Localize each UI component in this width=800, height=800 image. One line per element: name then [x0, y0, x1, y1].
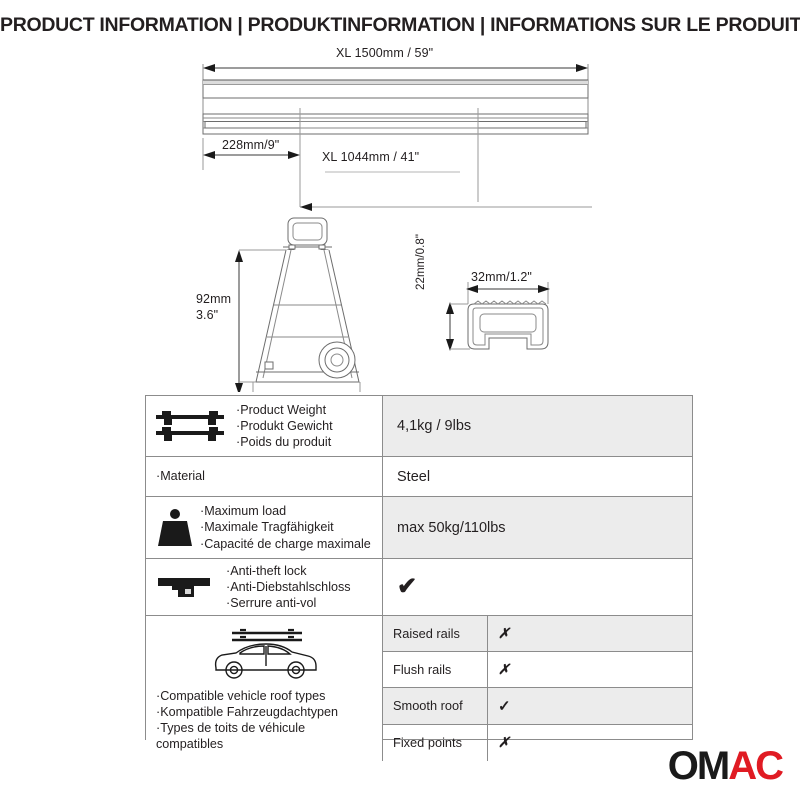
logo-text-red: AC	[728, 744, 782, 788]
omac-logo: OMAC	[668, 746, 782, 786]
technical-drawing-area: XL 1500mm / 59" 228mm/9" XL 1044mm / 41"…	[0, 42, 800, 392]
roof-type-option: Smooth roof ✓	[383, 688, 692, 724]
roof-type-option: Flush rails ✗	[383, 652, 692, 688]
bar-total-length-label: XL 1500mm / 59"	[336, 46, 433, 60]
label-en: ·Compatible vehicle roof types	[156, 688, 366, 704]
anti-theft-lock-value: ✔	[383, 559, 692, 615]
table-row: ·Material Steel	[146, 457, 692, 497]
label-fr: ·Types de toits de véhicule compatibles	[156, 720, 366, 752]
roof-type-option: Raised rails ✗	[383, 616, 692, 652]
label-en: ·Product Weight	[236, 402, 333, 418]
row-labels: ·Compatible vehicle roof types ·Kompatib…	[156, 688, 366, 752]
roof-type-options: Raised rails ✗ Flush rails ✗ Smooth roof…	[383, 616, 692, 761]
label-fr: ·Poids du produit	[236, 434, 333, 450]
roof-type-mark: ✗	[488, 725, 692, 761]
drawing-svg	[0, 42, 800, 392]
row-label-cell: ·Compatible vehicle roof types ·Kompatib…	[146, 616, 383, 761]
label-de: ·Anti-Diebstahlschloss	[226, 579, 351, 595]
foot-height-label-mm: 92mm	[196, 292, 231, 306]
bar-offset-label: 228mm/9"	[222, 138, 279, 152]
roof-type-name: Raised rails	[383, 616, 488, 651]
roof-type-mark: ✓	[488, 688, 692, 723]
row-labels: ·Product Weight ·Produkt Gewicht ·Poids …	[236, 402, 333, 450]
label-de: ·Kompatible Fahrzeugdachtypen	[156, 704, 366, 720]
bar-span-label: XL 1044mm / 41"	[322, 150, 419, 164]
profile-height-label: 22mm/0.8"	[415, 234, 427, 290]
cross-icon: ✗	[498, 734, 510, 751]
row-label-cell: ·Anti-theft lock ·Anti-Diebstahlschloss …	[146, 559, 383, 615]
label-fr: ·Capacité de charge maximale	[200, 536, 371, 552]
row-label-cell: ·Maximum load ·Maximale Tragfähigkeit ·C…	[146, 497, 383, 558]
profile-width-label: 32mm/1.2"	[471, 270, 532, 284]
row-labels: ·Anti-theft lock ·Anti-Diebstahlschloss …	[226, 563, 351, 611]
table-row-roof-types: ·Compatible vehicle roof types ·Kompatib…	[146, 616, 692, 761]
roof-type-option: Fixed points ✗	[383, 725, 692, 761]
car-with-crossbars-icon	[206, 624, 324, 682]
label-de: ·Maximale Tragfähigkeit	[200, 519, 371, 535]
roof-type-mark: ✗	[488, 652, 692, 687]
row-labels: ·Material	[156, 468, 205, 484]
specification-table: ·Product Weight ·Produkt Gewicht ·Poids …	[145, 395, 693, 740]
roof-type-name: Smooth roof	[383, 688, 488, 723]
label-fr: ·Serrure anti-vol	[226, 595, 351, 611]
material-value: Steel	[383, 457, 692, 496]
row-label-cell: ·Material	[146, 457, 383, 496]
foot-height-label-in: 3.6"	[196, 308, 218, 322]
table-row: ·Maximum load ·Maximale Tragfähigkeit ·C…	[146, 497, 692, 559]
maximum-load-value: max 50kg/110lbs	[383, 497, 692, 558]
check-icon: ✓	[498, 697, 511, 715]
product-information-page: PRODUCT INFORMATION | PRODUKTINFORMATION…	[0, 0, 800, 800]
product-weight-value: 4,1kg / 9lbs	[383, 396, 692, 456]
checkmark-icon: ✔	[397, 575, 417, 599]
table-row: ·Product Weight ·Produkt Gewicht ·Poids …	[146, 396, 692, 457]
roof-type-name: Flush rails	[383, 652, 488, 687]
row-label-cell: ·Product Weight ·Produkt Gewicht ·Poids …	[146, 396, 383, 456]
row-labels: ·Maximum load ·Maximale Tragfähigkeit ·C…	[200, 503, 371, 551]
roof-type-name: Fixed points	[383, 725, 488, 761]
crossbars-icon	[152, 406, 230, 446]
label-en: ·Maximum load	[200, 503, 371, 519]
label-en: ·Anti-theft lock	[226, 563, 351, 579]
weight-icon	[152, 505, 198, 551]
label-de: ·Produkt Gewicht	[236, 418, 333, 434]
roof-type-mark: ✗	[488, 616, 692, 651]
logo-text-black: OM	[668, 744, 728, 788]
label-en: ·Material	[156, 468, 205, 484]
page-title: PRODUCT INFORMATION | PRODUKTINFORMATION…	[0, 14, 800, 37]
cross-icon: ✗	[498, 661, 510, 678]
lock-icon	[152, 570, 216, 604]
cross-icon: ✗	[498, 625, 510, 642]
table-row: ·Anti-theft lock ·Anti-Diebstahlschloss …	[146, 559, 692, 616]
